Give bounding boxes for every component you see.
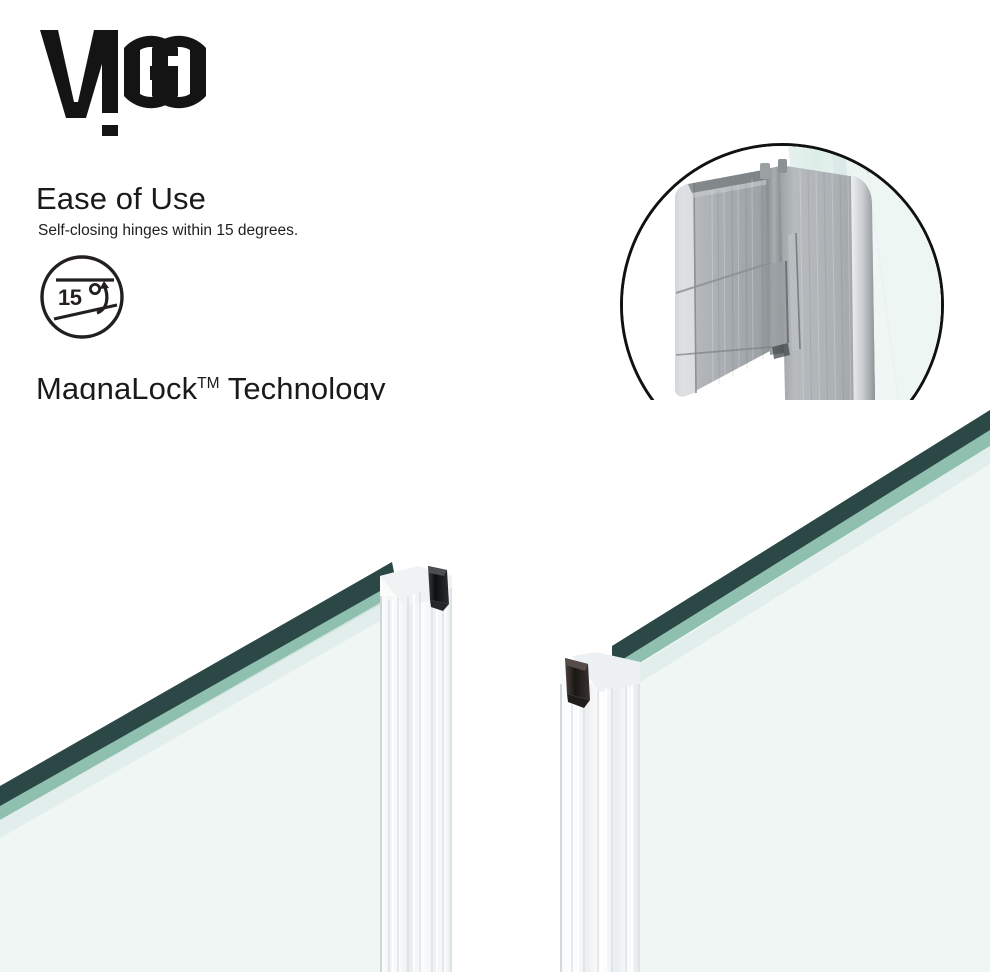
vigo-logo — [38, 26, 208, 136]
fifteen-degree-icon-label: 15 — [58, 285, 82, 310]
glass-panel-magnetic-seal — [0, 400, 990, 972]
product-feature-graphic: Ease of Use Self-closing hinges within 1… — [0, 0, 990, 972]
feature-subtitle-ease-of-use: Self-closing hinges within 15 degrees. — [38, 222, 298, 241]
fifteen-degree-icon: 15 — [38, 253, 298, 346]
feature-ease-of-use: Ease of Use Self-closing hinges within 1… — [36, 183, 298, 346]
trademark-symbol: TM — [197, 375, 219, 392]
feature-title-ease-of-use: Ease of Use — [36, 183, 298, 216]
